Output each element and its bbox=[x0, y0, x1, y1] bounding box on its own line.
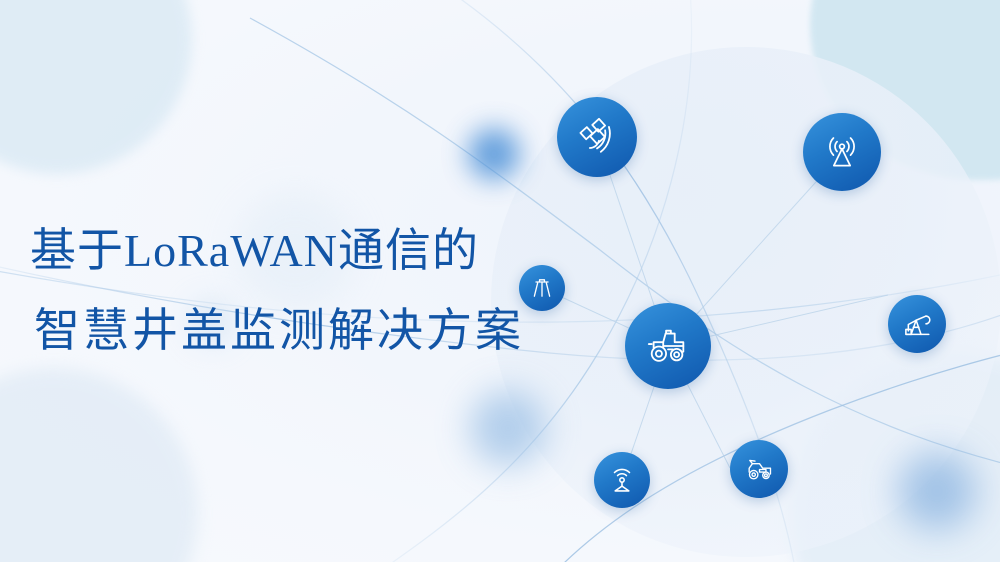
tractor-icon bbox=[645, 323, 691, 369]
node-radio-tower[interactable] bbox=[803, 113, 881, 191]
wireless-sensor-icon bbox=[607, 465, 637, 495]
oil-pumpjack-icon bbox=[902, 309, 933, 340]
title-line-1: 基于LoRaWAN通信的 bbox=[30, 228, 550, 274]
glow-dot-center bbox=[470, 390, 546, 466]
slide-canvas: 基于LoRaWAN通信的 智慧井盖监测解决方案 bbox=[0, 0, 1000, 562]
node-tractor[interactable] bbox=[625, 303, 711, 389]
node-satellite[interactable] bbox=[557, 97, 637, 177]
background-blob-bottom-right bbox=[790, 352, 1000, 562]
background-blob-bottom-left bbox=[0, 368, 198, 562]
node-oil-pump[interactable] bbox=[888, 295, 946, 353]
harvester-icon bbox=[744, 454, 775, 485]
title-block: 基于LoRaWAN通信的 智慧井盖监测解决方案 bbox=[30, 228, 550, 354]
radio-tower-icon bbox=[822, 132, 862, 172]
satellite-dish-icon bbox=[576, 116, 618, 158]
background-blob-top-left bbox=[0, 0, 192, 174]
node-harvester[interactable] bbox=[730, 440, 788, 498]
glow-dot-lower-right bbox=[898, 452, 976, 530]
title-line-2: 智慧井盖监测解决方案 bbox=[30, 308, 550, 354]
node-sensor[interactable] bbox=[594, 452, 650, 508]
glow-dot-upper bbox=[468, 128, 520, 180]
